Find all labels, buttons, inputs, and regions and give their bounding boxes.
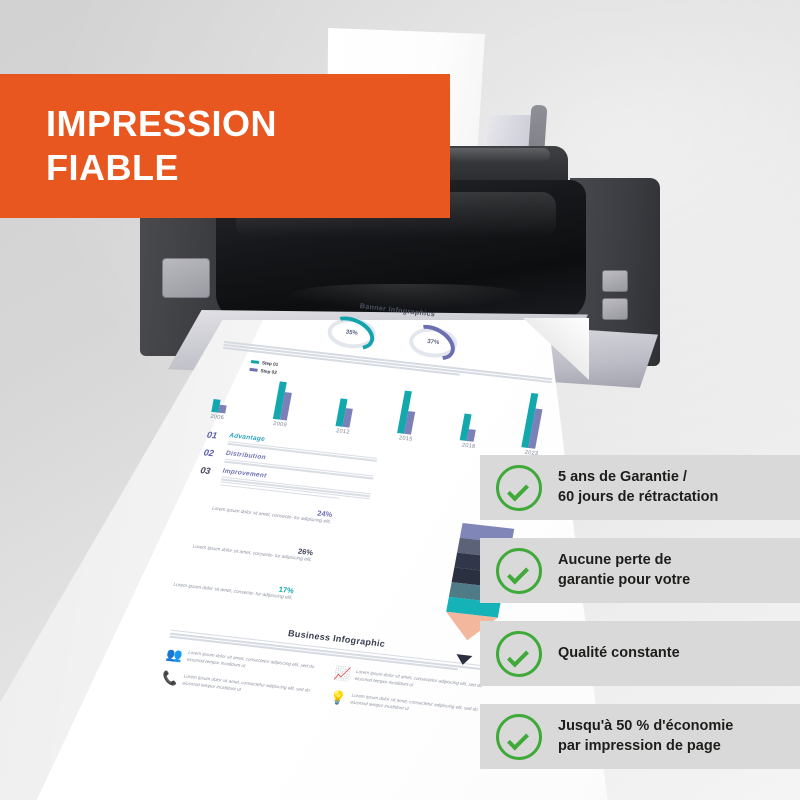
feature-item-2[interactable]: Qualité constante [480, 621, 800, 686]
check-circle-icon [496, 631, 542, 677]
icon-cell-text: Lorem ipsum dolor sit amet, consectetur … [350, 692, 491, 721]
x-tick-label: 2015 [398, 435, 413, 442]
check-circle-icon [496, 465, 542, 511]
bar-step02 [466, 429, 475, 441]
check-circle-icon [496, 714, 542, 760]
x-tick-label: 2012 [336, 428, 351, 435]
icon-cell-text: Lorem ipsum dolor sit amet, consectetur … [186, 650, 327, 679]
x-tick-label: 2009 [273, 421, 288, 428]
bar-group [335, 398, 354, 427]
funnel-note-1: 24% Lorem ipsum dolor sit amet, consecte… [211, 497, 333, 527]
growth-chart-icon: 📈 [333, 667, 351, 682]
people-group-icon: 👥 [165, 647, 183, 662]
printer-button-right-bottom[interactable] [602, 298, 628, 320]
bar-group [397, 390, 419, 434]
headline-line-2: FIABLE [46, 146, 450, 190]
feature-item-1[interactable]: Aucune perte degarantie pour votre [480, 538, 800, 603]
feature-text-3: Jusqu'à 50 % d'économiepar impression de… [558, 717, 733, 755]
lightbulb-icon: 💡 [329, 690, 347, 705]
feature-list: 5 ans de Garantie /60 jours de rétractat… [480, 455, 800, 769]
bar-step02 [218, 405, 226, 413]
funnel-pencil-nib [452, 654, 472, 680]
x-tick-label: 2018 [461, 442, 476, 449]
list-number: 02 [203, 447, 221, 459]
check-circle-icon [496, 548, 542, 594]
feature-text-1: Aucune perte degarantie pour votre [558, 551, 690, 589]
feature-item-0[interactable]: 5 ans de Garantie /60 jours de rétractat… [480, 455, 800, 520]
donut-value-1: 35% [325, 316, 378, 351]
headline-line-1: IMPRESSION [46, 102, 450, 146]
printer-button-left[interactable] [162, 258, 210, 298]
list-number: 03 [200, 465, 218, 477]
bar-group [273, 382, 294, 420]
funnel-note-3: 17% Lorem ipsum dolor sit amet, consecte… [172, 573, 294, 603]
donut-chart-1: 35% [325, 316, 378, 351]
phone-clock-icon: 📞 [161, 671, 179, 686]
poster-canvas: Banner Infographics 35% 37% Step 01 [0, 0, 800, 800]
list-number: 01 [206, 429, 224, 441]
bar-group [211, 399, 227, 413]
x-tick-label: 2006 [210, 413, 225, 420]
printer-button-right-top[interactable] [602, 270, 628, 292]
bar-group [459, 414, 478, 441]
donut-chart-2: 37% [407, 325, 460, 360]
feature-item-3[interactable]: Jusqu'à 50 % d'économiepar impression de… [480, 704, 800, 769]
donut-value-2: 37% [407, 325, 460, 360]
feature-text-0: 5 ans de Garantie /60 jours de rétractat… [558, 468, 718, 506]
headline-banner: IMPRESSION FIABLE [0, 74, 450, 218]
funnel-note-2: 26% Lorem ipsum dolor sit amet, consecte… [192, 535, 314, 565]
icon-cell-text: Lorem ipsum dolor sit amet, consectetur … [182, 673, 323, 702]
feature-text-2: Qualité constante [558, 644, 680, 663]
